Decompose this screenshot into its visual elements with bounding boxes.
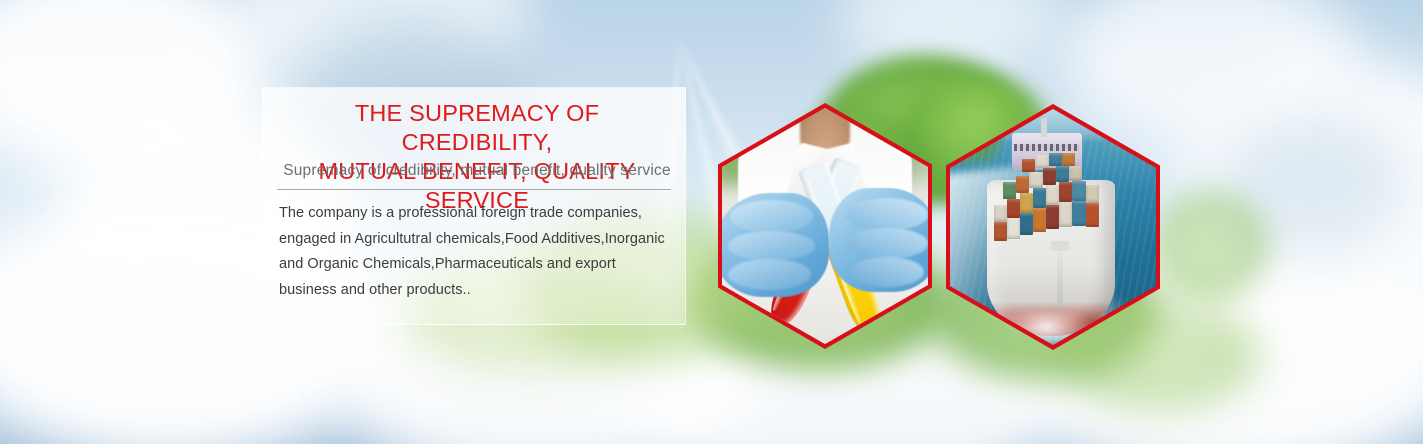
- shipping-container: [1062, 153, 1075, 166]
- shipping-container: [1049, 153, 1062, 166]
- banner-subheadline: Supremacy of credibility, mutual benefit…: [277, 161, 677, 181]
- shipping-container: [1022, 159, 1035, 172]
- shipping-container: [1043, 168, 1056, 185]
- cloud-shape: [0, 0, 270, 180]
- shipping-container: [1003, 182, 1016, 199]
- glove-finger: [850, 257, 924, 288]
- banner-headline: THE SUPREMACY OF CREDIBILITY, MUTUAL BEN…: [277, 99, 677, 215]
- shipping-container: [1007, 199, 1020, 218]
- shipping-container: [1046, 185, 1059, 205]
- shipping-container: [1059, 182, 1072, 202]
- cloud-shape: [840, 0, 1060, 80]
- hexagon-image-laboratory: [718, 103, 932, 349]
- hexagon-photo-clip: [950, 109, 1156, 345]
- shipping-container: [1046, 205, 1059, 230]
- shipping-container: [1086, 203, 1099, 227]
- shipping-container: [1033, 208, 1046, 232]
- deck-crane-mast: [1057, 246, 1063, 307]
- hexagon-image-cargo-ship: [946, 104, 1160, 350]
- glove-finger: [730, 200, 812, 233]
- shipping-container: [1086, 185, 1099, 204]
- shipping-container: [1072, 201, 1085, 226]
- shipping-container: [1033, 188, 1046, 208]
- shipping-container: [1059, 202, 1072, 227]
- shipping-container: [1069, 166, 1082, 181]
- shipping-container: [1020, 193, 1033, 213]
- hexagon-photo-clip: [722, 108, 928, 344]
- cargo-ship-photo: [950, 109, 1156, 345]
- glove-finger: [846, 228, 928, 259]
- shipping-container: [1035, 155, 1048, 168]
- panel-divider: [277, 189, 671, 190]
- shipping-container: [1029, 172, 1042, 189]
- shipping-container: [1056, 166, 1069, 183]
- cloud-shadow-shape: [1210, 110, 1410, 260]
- shipping-container: [1072, 181, 1085, 201]
- shipping-container: [994, 205, 1007, 223]
- promotional-banner: THE SUPREMACY OF CREDIBILITY, MUTUAL BEN…: [0, 0, 1423, 444]
- glove-finger: [728, 231, 815, 262]
- glove-finger: [846, 198, 928, 231]
- bow-foam: [999, 312, 1094, 345]
- banner-body-text: The company is a professional foreign tr…: [279, 201, 671, 303]
- shipping-container: [994, 222, 1007, 241]
- banner-text-panel: THE SUPREMACY OF CREDIBILITY, MUTUAL BEN…: [262, 87, 686, 325]
- ship-mast: [1041, 118, 1047, 137]
- deck-crane-top: [1051, 241, 1070, 250]
- laboratory-photo: [722, 108, 928, 344]
- shipping-container: [1016, 176, 1029, 193]
- glove-finger: [728, 259, 810, 290]
- shipping-container: [1020, 213, 1033, 235]
- shipping-container: [1007, 218, 1020, 239]
